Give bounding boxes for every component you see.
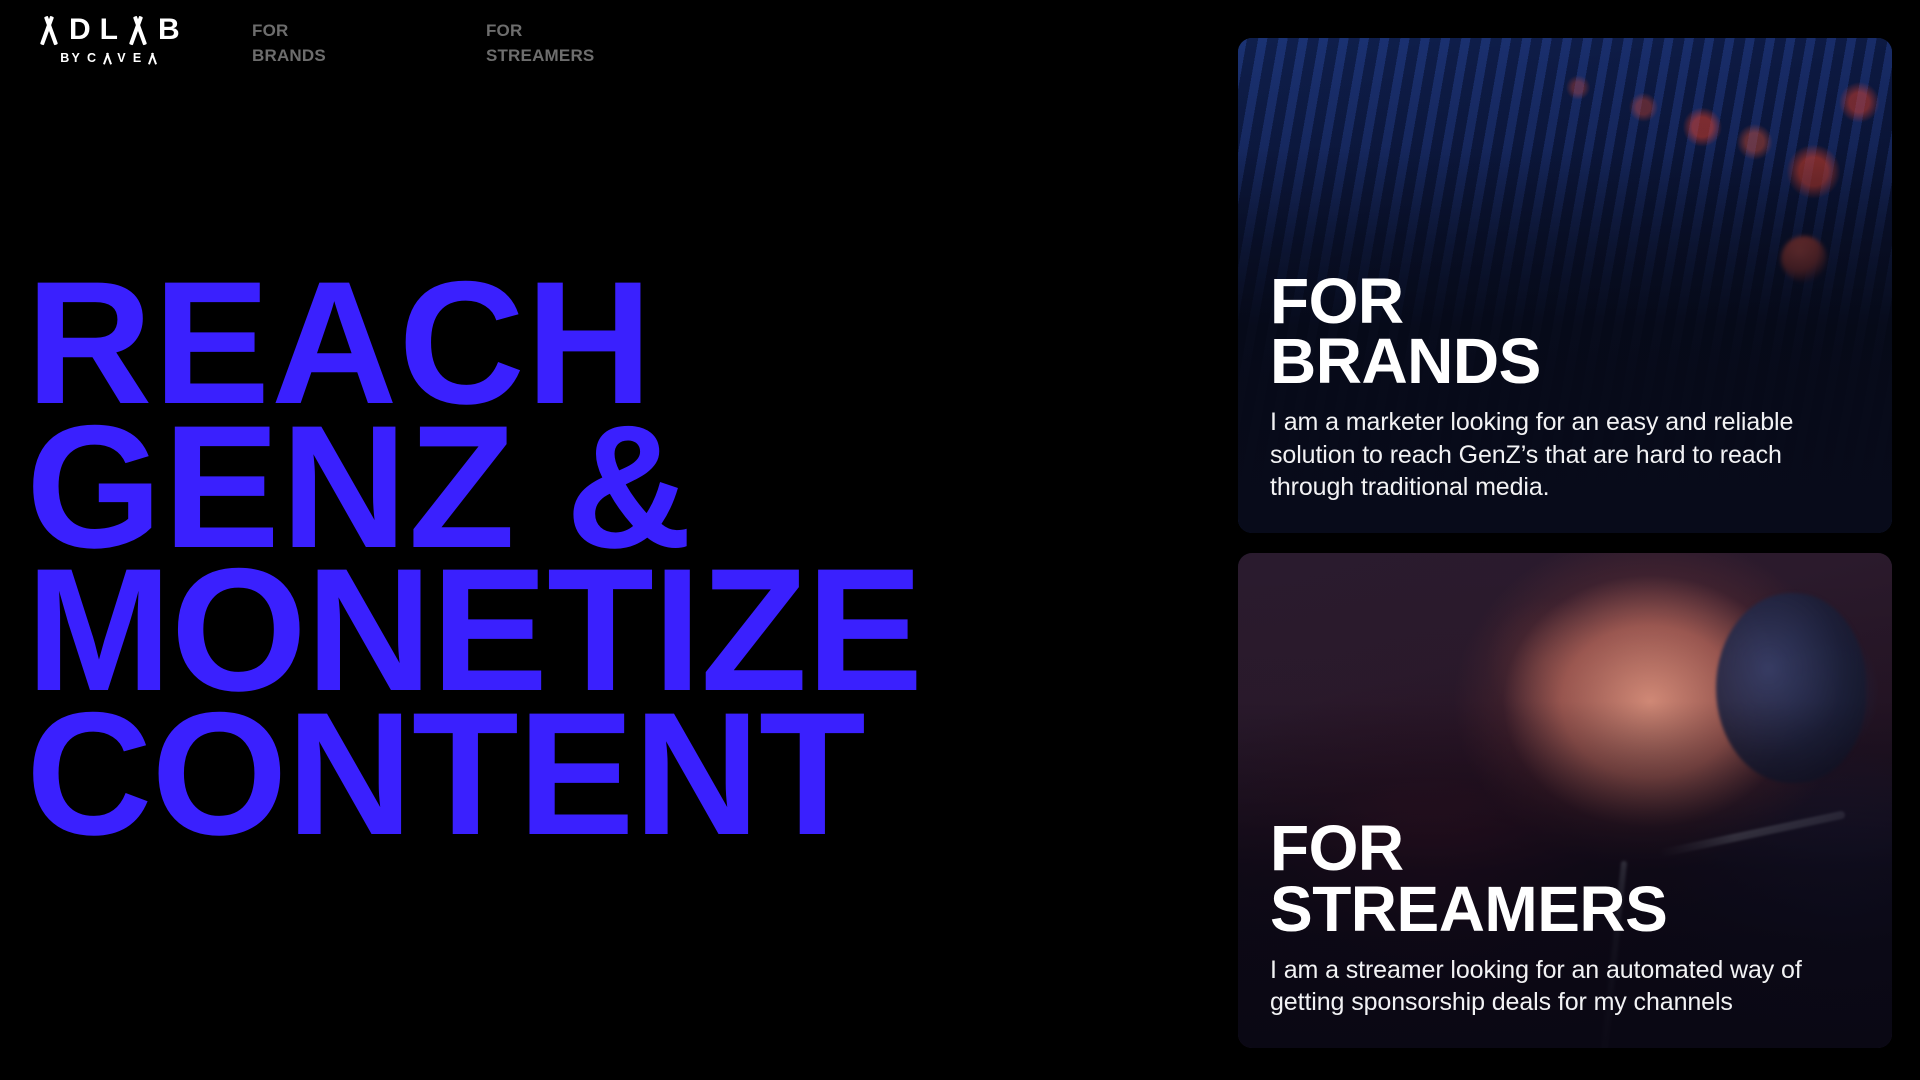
logo-tagline-a-icon xyxy=(103,53,112,64)
card-for-brands-title: FOR BRANDS xyxy=(1270,271,1864,393)
card-for-brands[interactable]: FOR BRANDS I am a marketer looking for a… xyxy=(1238,38,1892,533)
logo-letter-a2-icon xyxy=(127,16,149,44)
logo-tagline: BY C V E xyxy=(60,51,157,65)
nav-item-for-brands[interactable]: FOR BRANDS xyxy=(252,18,326,68)
hero-line-4: CONTENT xyxy=(26,703,1226,847)
logo-tagline-by: BY xyxy=(60,51,82,65)
logo-letter-b: B xyxy=(158,16,180,44)
logo-tagline-v-wrap: V xyxy=(117,51,128,65)
logo-tagline-e: E xyxy=(133,51,144,65)
landing-page: D L B BY C V E FOR BRANDS FOR STREAMERS … xyxy=(0,0,1920,1080)
logo-tagline-c: C xyxy=(87,51,98,65)
main-nav: FOR BRANDS FOR STREAMERS xyxy=(252,18,594,68)
card-for-streamers[interactable]: FOR STREAMERS I am a streamer looking fo… xyxy=(1238,553,1892,1048)
logo-letter-d: D xyxy=(69,16,91,44)
card-for-streamers-content: FOR STREAMERS I am a streamer looking fo… xyxy=(1270,818,1864,1018)
logo-wordmark: D L B xyxy=(38,14,180,44)
card-for-streamers-body: I am a streamer looking for an automated… xyxy=(1270,954,1864,1019)
headset-icon xyxy=(1716,593,1866,783)
nav-item-for-streamers[interactable]: FOR STREAMERS xyxy=(486,18,595,68)
logo-letter-l: L xyxy=(100,16,118,44)
card-for-streamers-title: FOR STREAMERS xyxy=(1270,818,1864,940)
card-for-brands-content: FOR BRANDS I am a marketer looking for a… xyxy=(1270,271,1864,503)
card-for-brands-body: I am a marketer looking for an easy and … xyxy=(1270,406,1864,503)
hero-headline: REACH GENZ & MONETIZE CONTENT xyxy=(26,272,1226,846)
logo-tagline-a2-icon xyxy=(148,53,157,64)
logo[interactable]: D L B BY C V E xyxy=(38,14,180,65)
logo-letter-a-icon xyxy=(38,16,60,44)
